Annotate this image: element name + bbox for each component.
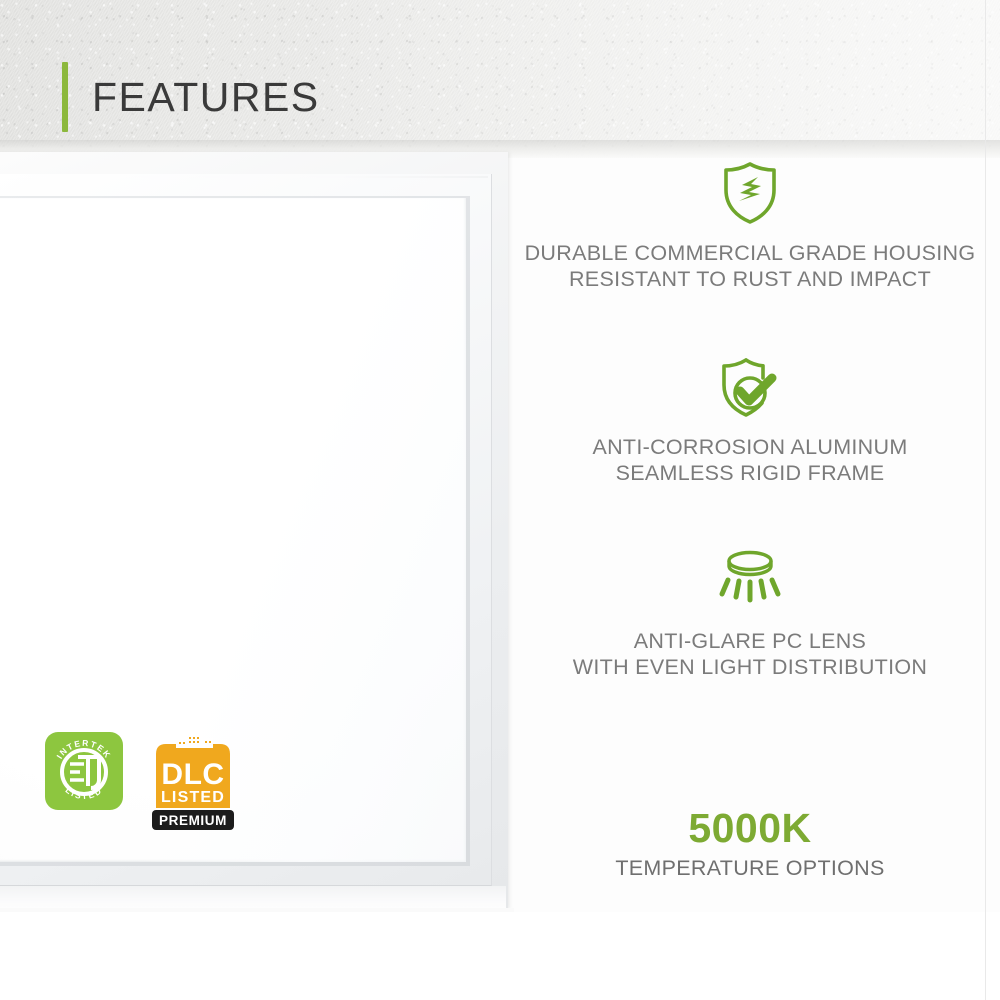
light-rays-icon — [710, 550, 790, 614]
dlc-main-text: DLC — [161, 758, 224, 791]
temperature-label: TEMPERATURE OPTIONS — [510, 855, 990, 881]
panel-bottom-edge — [0, 886, 506, 908]
feature-text: DURABLE COMMERCIAL GRADE HOUSING RESISTA… — [510, 240, 990, 292]
dlc-sub-text: LISTED — [161, 789, 225, 806]
bottom-background — [0, 912, 1000, 1000]
certification-badges: INTERTEK LISTED — [44, 730, 238, 832]
feature-item: ANTI-CORROSION ALUMINUM SEAMLESS RIGID F… — [510, 356, 990, 486]
dlc-premium-badge: DLC LISTED PREMIUM — [148, 730, 238, 832]
right-edge-line — [985, 0, 986, 1000]
panel-bevel-highlight — [0, 176, 488, 178]
feature-item: ANTI-GLARE PC LENS WITH EVEN LIGHT DISTR… — [510, 550, 990, 680]
feature-item: DURABLE COMMERCIAL GRADE HOUSING RESISTA… — [510, 160, 990, 292]
shield-lightning-icon — [719, 160, 781, 226]
etl-listed-icon: INTERTEK LISTED — [44, 730, 124, 812]
accent-bar — [62, 62, 68, 132]
feature-text: ANTI-GLARE PC LENS WITH EVEN LIGHT DISTR… — [510, 628, 990, 680]
dlc-premium-icon: DLC LISTED PREMIUM — [148, 730, 238, 832]
etl-listed-badge: INTERTEK LISTED — [44, 730, 124, 812]
shield-check-icon — [717, 356, 783, 420]
temperature-block: 5000K TEMPERATURE OPTIONS — [510, 805, 990, 881]
feature-text: ANTI-CORROSION ALUMINUM SEAMLESS RIGID F… — [510, 434, 990, 486]
temperature-value: 5000K — [510, 805, 990, 851]
header: FEATURES — [0, 0, 1000, 156]
product-feature-graphic: FEATURES — [0, 0, 1000, 1000]
dlc-banner-text: PREMIUM — [159, 813, 227, 828]
page-title: FEATURES — [92, 68, 320, 126]
